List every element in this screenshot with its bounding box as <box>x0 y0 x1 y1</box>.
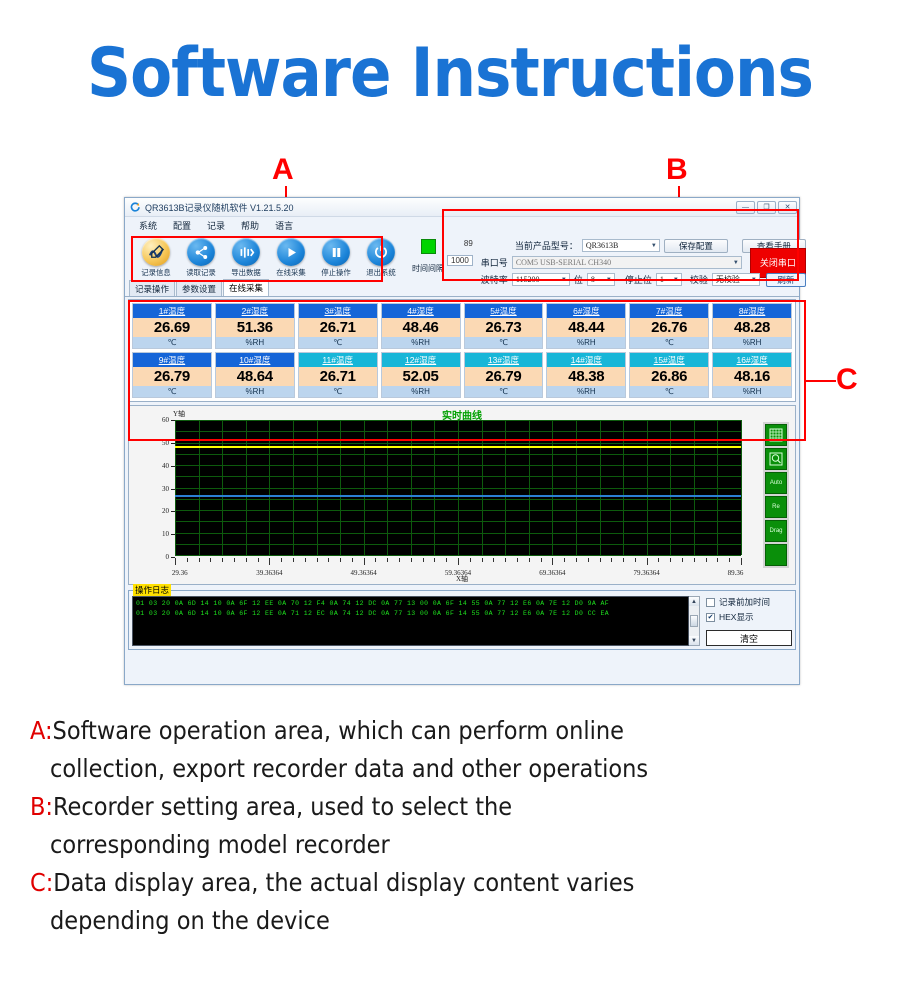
data-cell: 5#温度26.73℃ <box>464 303 544 349</box>
data-cell-header: 3#温度 <box>299 304 377 318</box>
callout-line-c <box>806 380 836 382</box>
data-cell-header: 10#湿度 <box>216 353 294 367</box>
legend-line-b2: corresponding model recorder <box>30 826 890 864</box>
product-model-label: 当前产品型号： <box>515 239 578 252</box>
legend-line-c2: depending on the device <box>30 902 890 940</box>
chart-x-tick <box>647 558 648 565</box>
legend-text-a1: Software operation area, which can perfo… <box>53 716 624 745</box>
toolbar-button-read-record[interactable]: 读取记录 <box>180 238 222 278</box>
data-cell: 16#湿度48.16%RH <box>712 352 792 398</box>
toolbar-label-record-info: 记录信息 <box>141 267 170 277</box>
product-model-select[interactable]: QR3613B ▼ <box>582 239 660 252</box>
parity-select[interactable]: 无校验 ▼ <box>712 273 760 286</box>
chart-x-tick <box>470 558 471 562</box>
chart-x-tick <box>505 558 506 562</box>
data-cell-header: 11#温度 <box>299 353 377 367</box>
chart-x-tick <box>670 558 671 562</box>
power-exit-icon <box>367 238 395 266</box>
close-button[interactable]: ✕ <box>778 201 797 214</box>
zoom-tool-icon[interactable] <box>765 448 787 470</box>
toolbar-button-stop-operation[interactable]: 停止操作 <box>315 238 357 278</box>
sample-count: 89 <box>464 239 473 248</box>
chart-series-line <box>175 446 741 448</box>
toolbar-button-record-info[interactable]: 记录信息 <box>135 238 177 278</box>
toolbar-label-online-collect: 在线采集 <box>276 267 305 277</box>
menu-item-config[interactable]: 配置 <box>173 219 191 232</box>
data-cell-value: 48.28 <box>713 318 791 337</box>
record-info-icon <box>142 238 170 266</box>
chart-x-tick <box>423 558 424 562</box>
option-hex[interactable]: ✔ HEX显示 <box>706 611 792 623</box>
data-cell-header: 5#温度 <box>465 304 543 318</box>
chart-x-tick <box>611 558 612 562</box>
data-cell-header: 7#温度 <box>630 304 708 318</box>
toolbar-label-export-data: 导出数据 <box>231 267 260 277</box>
data-cell: 12#湿度52.05%RH <box>381 352 461 398</box>
scroll-down-button[interactable]: ▼ <box>689 636 699 645</box>
data-cell-value: 48.38 <box>547 367 625 386</box>
tab-online-collection[interactable]: 在线采集 <box>223 279 269 296</box>
realtime-chart: 实时曲线 Y轴 0102030405060 X轴 AutoReDrag 29.3… <box>128 405 796 585</box>
data-cell-value: 26.76 <box>630 318 708 337</box>
chart-x-tick <box>210 558 211 562</box>
auto-scale-icon[interactable]: Auto <box>765 472 787 494</box>
data-cell-value: 26.79 <box>465 367 543 386</box>
chart-x-tick-label: 29.36 <box>172 569 188 577</box>
chart-x-tick <box>446 558 447 562</box>
maximize-button[interactable]: ❐ <box>757 201 776 214</box>
software-operation-area: 记录信息 读取记录 <box>131 235 406 279</box>
chart-x-tick <box>517 558 518 562</box>
chevron-down-icon: ▼ <box>751 277 757 283</box>
chart-x-tick <box>717 558 718 562</box>
chart-y-tick-label: 60 <box>147 416 169 424</box>
chart-y-tick-label: 10 <box>147 530 169 538</box>
stopbit-select[interactable]: 1 ▼ <box>656 273 682 286</box>
interval-label: 时间间隔 <box>412 263 444 274</box>
chart-x-tick <box>222 558 223 562</box>
chart-x-tick <box>246 558 247 562</box>
data-cell-unit: %RH <box>216 386 294 397</box>
chart-x-tick <box>175 558 176 565</box>
chart-x-tick <box>387 558 388 562</box>
data-cell-unit: ℃ <box>133 386 211 397</box>
data-grid: 1#温度26.69℃2#湿度51.36%RH3#温度26.71℃4#湿度48.4… <box>132 303 792 398</box>
chart-series-line <box>175 495 741 497</box>
tab-record-operation[interactable]: 记录操作 <box>129 280 175 296</box>
legend-line-c1: C:Data display area, the actual display … <box>30 864 890 902</box>
log-line: 01 03 20 0A 6D 14 10 0A 6F 12 EE 0A 70 1… <box>136 599 685 609</box>
log-console[interactable]: 01 03 20 0A 6D 14 10 0A 6F 12 EE 0A 70 1… <box>132 596 689 646</box>
connection-status-indicator <box>421 239 436 254</box>
chart-x-tick <box>458 558 459 565</box>
chart-x-tick <box>576 558 577 562</box>
checkbox-timestamp[interactable] <box>706 598 715 607</box>
legend-block: A:Software operation area, which can per… <box>30 712 890 940</box>
data-cell-unit: ℃ <box>630 337 708 348</box>
data-cell: 13#温度26.79℃ <box>464 352 544 398</box>
chart-x-tick <box>399 558 400 562</box>
chart-x-tick <box>411 558 412 562</box>
data-cell: 7#温度26.76℃ <box>629 303 709 349</box>
toolbar-button-export-data[interactable]: 导出数据 <box>225 238 267 278</box>
chart-y-tick-label: 0 <box>147 553 169 561</box>
chart-y-tick-mark <box>171 534 175 535</box>
toolbar-row: 记录信息 读取记录 <box>125 233 799 279</box>
baud-select[interactable]: 115200 ▼ <box>512 273 570 286</box>
chart-y-tick-label: 40 <box>147 462 169 470</box>
chart-x-tick <box>258 558 259 562</box>
reset-view-icon[interactable]: Re <box>765 496 787 518</box>
data-cell-value: 26.79 <box>133 367 211 386</box>
chart-tool-palette: AutoReDrag <box>763 422 789 568</box>
bits-value: 8 <box>591 275 595 284</box>
data-cell-unit: %RH <box>713 386 791 397</box>
legend-text-c1: Data display area, the actual display co… <box>53 868 634 897</box>
legend-line-a1: A:Software operation area, which can per… <box>30 712 890 750</box>
callout-letter-b: B <box>666 155 688 185</box>
chart-x-tick <box>187 558 188 562</box>
chevron-down-icon: ▼ <box>561 277 567 283</box>
chart-x-tick <box>234 558 235 562</box>
chart-x-tick <box>482 558 483 562</box>
data-cell-unit: ℃ <box>630 386 708 397</box>
chart-x-tick <box>317 558 318 562</box>
chart-x-tick-label: 39.36364 <box>256 569 282 577</box>
data-cell-unit: %RH <box>713 337 791 348</box>
data-cell-value: 26.71 <box>299 367 377 386</box>
chart-x-tick <box>305 558 306 562</box>
share-read-icon <box>187 238 215 266</box>
pause-stop-icon <box>322 238 350 266</box>
product-model-value: QR3613B <box>586 241 618 250</box>
chart-x-tick <box>328 558 329 562</box>
data-cell-header: 6#湿度 <box>547 304 625 318</box>
chart-x-tick-label: 59.36364 <box>445 569 471 577</box>
data-cell: 11#温度26.71℃ <box>298 352 378 398</box>
chart-x-tick <box>352 558 353 562</box>
option-timestamp[interactable]: 记录前加时间 <box>706 596 792 608</box>
chart-x-tick-label: 49.36364 <box>351 569 377 577</box>
scroll-thumb[interactable] <box>690 615 698 627</box>
callout-letter-a: A <box>272 155 294 185</box>
data-cell: 6#湿度48.44%RH <box>546 303 626 349</box>
data-cell-header: 15#温度 <box>630 353 708 367</box>
toolbar-button-exit-system[interactable]: 退出系统 <box>360 238 402 278</box>
callout-letter-c: C <box>836 365 858 395</box>
chart-x-tick <box>541 558 542 562</box>
menu-item-system[interactable]: 系统 <box>139 219 157 232</box>
blank-tool-icon[interactable] <box>765 544 787 566</box>
status-numbers: 89 1000 <box>447 235 473 266</box>
chart-x-tick <box>694 558 695 562</box>
chart-x-tick <box>635 558 636 562</box>
legend-key-a: A: <box>30 716 53 745</box>
window-title: QR3613B记录仪随机软件 V1.21.5.20 <box>145 201 294 214</box>
data-cell-header: 4#湿度 <box>382 304 460 318</box>
checkbox-hex-label: HEX显示 <box>719 611 753 623</box>
chart-x-tick <box>364 558 365 565</box>
legend-line-b1: B:Recorder setting area, used to select … <box>30 788 890 826</box>
data-cell-header: 2#湿度 <box>216 304 294 318</box>
scroll-up-button[interactable]: ▲ <box>689 597 699 606</box>
legend-line-a2: collection, export recorder data and oth… <box>30 750 890 788</box>
data-cell-value: 26.73 <box>465 318 543 337</box>
parity-label: 校验 <box>690 273 708 286</box>
stopbit-value: 1 <box>660 275 664 284</box>
chart-x-tick <box>529 558 530 562</box>
baud-label: 波特率 <box>481 273 508 286</box>
data-cell-unit: ℃ <box>465 386 543 397</box>
data-cell-value: 26.71 <box>299 318 377 337</box>
data-cell: 10#湿度48.64%RH <box>215 352 295 398</box>
chevron-down-icon: ▼ <box>673 277 679 283</box>
chart-x-tick <box>552 558 553 565</box>
chart-x-tick <box>375 558 376 562</box>
recorder-setting-area: 当前产品型号： QR3613B ▼ 保存配置 查看手册 串口号 COM5 USB… <box>477 235 810 291</box>
page-title: Software Instructions <box>0 34 900 113</box>
data-cell-unit: %RH <box>382 386 460 397</box>
toolbar-button-online-collect[interactable]: 在线采集 <box>270 238 312 278</box>
chart-y-tick-mark <box>171 466 175 467</box>
data-cell: 4#湿度48.46%RH <box>381 303 461 349</box>
menu-item-record[interactable]: 记录 <box>207 219 225 232</box>
application-window: QR3613B记录仪随机软件 V1.21.5.20 — ❐ ✕ 系统 配置 记录… <box>124 197 800 685</box>
chart-x-tick-label: 69.36364 <box>539 569 565 577</box>
chart-y-axis-name: Y轴 <box>173 409 185 419</box>
bits-label: 位 <box>574 273 583 286</box>
operation-log-group: 操作日志 01 03 20 0A 6D 14 10 0A 6F 12 EE 0A… <box>128 590 796 650</box>
chart-x-tick <box>269 558 270 565</box>
stopbit-label: 停止位 <box>625 273 652 286</box>
chevron-down-icon: ▼ <box>733 260 739 266</box>
data-cell-header: 13#温度 <box>465 353 543 367</box>
toolbar-label-stop-operation: 停止操作 <box>321 267 350 277</box>
drag-tool-icon[interactable]: Drag <box>765 520 787 542</box>
chart-x-tick <box>682 558 683 562</box>
data-cell-unit: ℃ <box>133 337 211 348</box>
legend-key-b: B: <box>30 792 53 821</box>
legend-text-b1: Recorder setting area, used to select th… <box>53 792 512 821</box>
chart-gridline <box>175 555 741 556</box>
data-cell-value: 48.44 <box>547 318 625 337</box>
data-cell-header: 9#温度 <box>133 353 211 367</box>
menu-item-help[interactable]: 帮助 <box>241 219 259 232</box>
data-display-area: 1#温度26.69℃2#湿度51.36%RH3#温度26.71℃4#湿度48.4… <box>128 299 796 402</box>
data-cell-value: 48.16 <box>713 367 791 386</box>
chart-y-tick-mark <box>171 511 175 512</box>
menu-bar: 系统 配置 记录 帮助 语言 <box>125 217 799 233</box>
chevron-down-icon: ▼ <box>606 277 612 283</box>
chart-y-tick-label: 30 <box>147 485 169 493</box>
data-cell-value: 48.46 <box>382 318 460 337</box>
chevron-down-icon: ▼ <box>651 243 657 249</box>
grid-toggle-icon[interactable] <box>765 424 787 446</box>
data-cell: 2#湿度51.36%RH <box>215 303 295 349</box>
bits-select[interactable]: 8 ▼ <box>587 273 615 286</box>
log-line: 01 03 20 0A 6D 14 10 0A 6F 12 EE 0A 71 1… <box>136 609 685 619</box>
chart-x-tick <box>340 558 341 562</box>
baud-value: 115200 <box>516 275 540 284</box>
save-config-button[interactable]: 保存配置 <box>664 239 728 253</box>
data-cell-value: 48.64 <box>216 367 294 386</box>
chart-x-tick <box>623 558 624 562</box>
data-cell-unit: %RH <box>547 386 625 397</box>
app-logo-icon <box>130 202 141 213</box>
chart-x-tick <box>564 558 565 562</box>
data-cell-value: 26.69 <box>133 318 211 337</box>
operation-log-inner: 01 03 20 0A 6D 14 10 0A 6F 12 EE 0A 70 1… <box>132 596 792 646</box>
checkbox-hex[interactable]: ✔ <box>706 613 715 622</box>
log-scrollbar[interactable]: ▲ ▼ <box>689 596 700 646</box>
data-cell-value: 52.05 <box>382 367 460 386</box>
data-cell-header: 8#湿度 <box>713 304 791 318</box>
chart-series-line <box>175 439 741 441</box>
port-row: 串口号 COM5 USB-SERIAL CH340 ▼ 关闭串口 <box>481 255 806 270</box>
data-cell-header: 16#湿度 <box>713 353 791 367</box>
chart-plot-area[interactable] <box>175 420 741 555</box>
minimize-button[interactable]: — <box>736 201 755 214</box>
data-cell: 14#湿度48.38%RH <box>546 352 626 398</box>
interval-input[interactable]: 1000 <box>447 255 473 266</box>
chart-y-tick-label: 20 <box>147 507 169 515</box>
data-cell-unit: %RH <box>547 337 625 348</box>
checkbox-timestamp-label: 记录前加时间 <box>719 596 770 608</box>
data-cell-value: 26.86 <box>630 367 708 386</box>
data-cell: 15#温度26.86℃ <box>629 352 709 398</box>
chart-x-tick-label: 89.36 <box>728 569 744 577</box>
operation-log-legend: 操作日志 <box>133 584 171 596</box>
data-cell: 1#温度26.69℃ <box>132 303 212 349</box>
chart-x-tick <box>741 558 742 565</box>
refresh-button[interactable]: 刷新 <box>766 273 806 287</box>
chart-y-tick-mark <box>171 489 175 490</box>
data-cell-header: 14#湿度 <box>547 353 625 367</box>
port-value: COM5 USB-SERIAL CH340 <box>516 258 611 267</box>
chart-x-tick <box>493 558 494 562</box>
log-options: 记录前加时间 ✔ HEX显示 清空 <box>700 596 792 646</box>
data-cell-header: 12#湿度 <box>382 353 460 367</box>
legend-key-c: C: <box>30 868 53 897</box>
chart-x-tick <box>281 558 282 562</box>
chart-x-tick <box>434 558 435 562</box>
chart-x-tick-label: 79.36364 <box>634 569 660 577</box>
toolbar-label-read-record: 读取记录 <box>186 267 215 277</box>
data-cell: 8#湿度48.28%RH <box>712 303 792 349</box>
parity-value: 无校验 <box>716 274 740 285</box>
data-cell: 9#温度26.79℃ <box>132 352 212 398</box>
data-cell-unit: ℃ <box>299 337 377 348</box>
menu-item-language[interactable]: 语言 <box>275 219 293 232</box>
chart-x-tick <box>600 558 601 562</box>
chart-y-tick-mark <box>171 420 175 421</box>
status-block: 时间间隔 <box>412 235 444 274</box>
chart-gridline <box>741 420 742 555</box>
data-cell: 3#温度26.71℃ <box>298 303 378 349</box>
chart-x-tick <box>706 558 707 562</box>
clear-log-button[interactable]: 清空 <box>706 630 792 646</box>
baud-row: 波特率 115200 ▼ 位 8 ▼ 停止位 1 ▼ 校验 无校验 <box>481 272 806 287</box>
chart-x-tick <box>729 558 730 562</box>
data-cell-unit: ℃ <box>465 337 543 348</box>
data-cell-value: 51.36 <box>216 318 294 337</box>
chart-x-axis <box>175 558 741 566</box>
chart-x-tick <box>588 558 589 562</box>
port-select[interactable]: COM5 USB-SERIAL CH340 ▼ <box>512 256 742 269</box>
chart-y-tick-mark <box>171 443 175 444</box>
export-data-icon <box>232 238 260 266</box>
chart-x-tick <box>293 558 294 562</box>
tab-parameter-settings[interactable]: 参数设置 <box>176 280 222 296</box>
window-titlebar: QR3613B记录仪随机软件 V1.21.5.20 — ❐ ✕ <box>125 198 799 217</box>
toolbar-label-exit-system: 退出系统 <box>366 267 395 277</box>
data-cell-unit: %RH <box>382 337 460 348</box>
data-cell-header: 1#温度 <box>133 304 211 318</box>
play-online-collect-icon <box>277 238 305 266</box>
chart-x-tick <box>658 558 659 562</box>
data-cell-unit: ℃ <box>299 386 377 397</box>
data-cell-unit: %RH <box>216 337 294 348</box>
chart-y-tick-label: 50 <box>147 439 169 447</box>
port-label: 串口号 <box>481 256 508 269</box>
chart-x-tick <box>199 558 200 562</box>
